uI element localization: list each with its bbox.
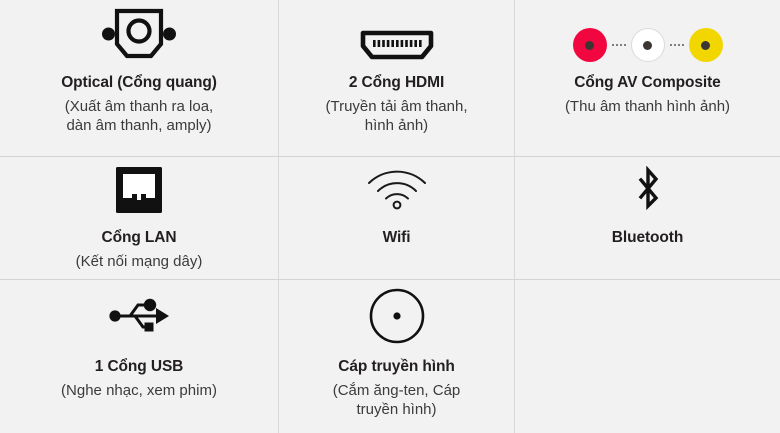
lan-port-icon <box>10 157 268 223</box>
coaxial-port-icon <box>289 280 504 352</box>
rca-white-connector-icon <box>631 28 665 62</box>
spec-title: Cổng LAN <box>10 229 268 248</box>
spec-cell-cable-tv: Cáp truyền hình (Cắm ăng-ten, Cáp truyền… <box>279 280 515 433</box>
av-composite-icon <box>525 0 770 64</box>
connectivity-spec-grid: Optical (Cổng quang) (Xuất âm thanh ra l… <box>0 0 780 433</box>
spec-cell-optical: Optical (Cổng quang) (Xuất âm thanh ra l… <box>0 0 279 157</box>
connector-dots <box>665 44 689 46</box>
spec-cell-av-composite: Cổng AV Composite (Thu âm thanh hình ảnh… <box>515 0 780 157</box>
spec-subtitle-line1: (Truyền tải âm thanh, <box>289 97 504 116</box>
spec-labels: 2 Cổng HDMI (Truyền tải âm thanh, hình ả… <box>289 74 504 135</box>
spec-labels: Cáp truyền hình (Cắm ăng-ten, Cáp truyền… <box>289 358 504 419</box>
spec-title: Cáp truyền hình <box>289 358 504 377</box>
spec-subtitle-line2: dàn âm thanh, amply) <box>10 116 268 135</box>
spec-subtitle-line2: hình ảnh) <box>289 116 504 135</box>
spec-title: 1 Cổng USB <box>10 358 268 377</box>
spec-cell-wifi: Wifi <box>279 157 515 280</box>
spec-subtitle-line1: (Xuất âm thanh ra loa, <box>10 97 268 116</box>
spec-title: Optical (Cổng quang) <box>10 74 268 93</box>
spec-cell-usb: 1 Cổng USB (Nghe nhạc, xem phim) <box>0 280 279 433</box>
spec-cell-empty <box>515 280 780 433</box>
spec-labels: Bluetooth <box>525 229 770 248</box>
spec-labels: Cổng AV Composite (Thu âm thanh hình ảnh… <box>525 74 770 116</box>
spec-cell-lan: Cổng LAN (Kết nối mạng dây) <box>0 157 279 280</box>
spec-labels: 1 Cổng USB (Nghe nhạc, xem phim) <box>10 358 268 400</box>
hdmi-port-icon <box>289 0 504 64</box>
spec-subtitle-line1: (Nghe nhạc, xem phim) <box>10 381 268 400</box>
usb-icon <box>10 280 268 352</box>
connector-dots <box>607 44 631 46</box>
spec-title: Wifi <box>289 229 504 248</box>
rca-red-connector-icon <box>573 28 607 62</box>
spec-subtitle-line1: (Kết nối mạng dây) <box>10 252 268 271</box>
optical-port-icon <box>10 0 268 64</box>
spec-labels: Wifi <box>289 229 504 248</box>
spec-cell-hdmi: 2 Cổng HDMI (Truyền tải âm thanh, hình ả… <box>279 0 515 157</box>
spec-title: Cổng AV Composite <box>525 74 770 93</box>
wifi-icon <box>289 157 504 223</box>
rca-yellow-connector-icon <box>689 28 723 62</box>
spec-title: 2 Cổng HDMI <box>289 74 504 93</box>
spec-subtitle-line2: truyền hình) <box>289 400 504 419</box>
spec-labels: Optical (Cổng quang) (Xuất âm thanh ra l… <box>10 74 268 135</box>
spec-subtitle-line1: (Thu âm thanh hình ảnh) <box>525 97 770 116</box>
spec-cell-bluetooth: Bluetooth <box>515 157 780 280</box>
spec-labels: Cổng LAN (Kết nối mạng dây) <box>10 229 268 271</box>
spec-subtitle-line1: (Cắm ăng-ten, Cáp <box>289 381 504 400</box>
bluetooth-icon <box>525 157 770 223</box>
spec-title: Bluetooth <box>525 229 770 248</box>
